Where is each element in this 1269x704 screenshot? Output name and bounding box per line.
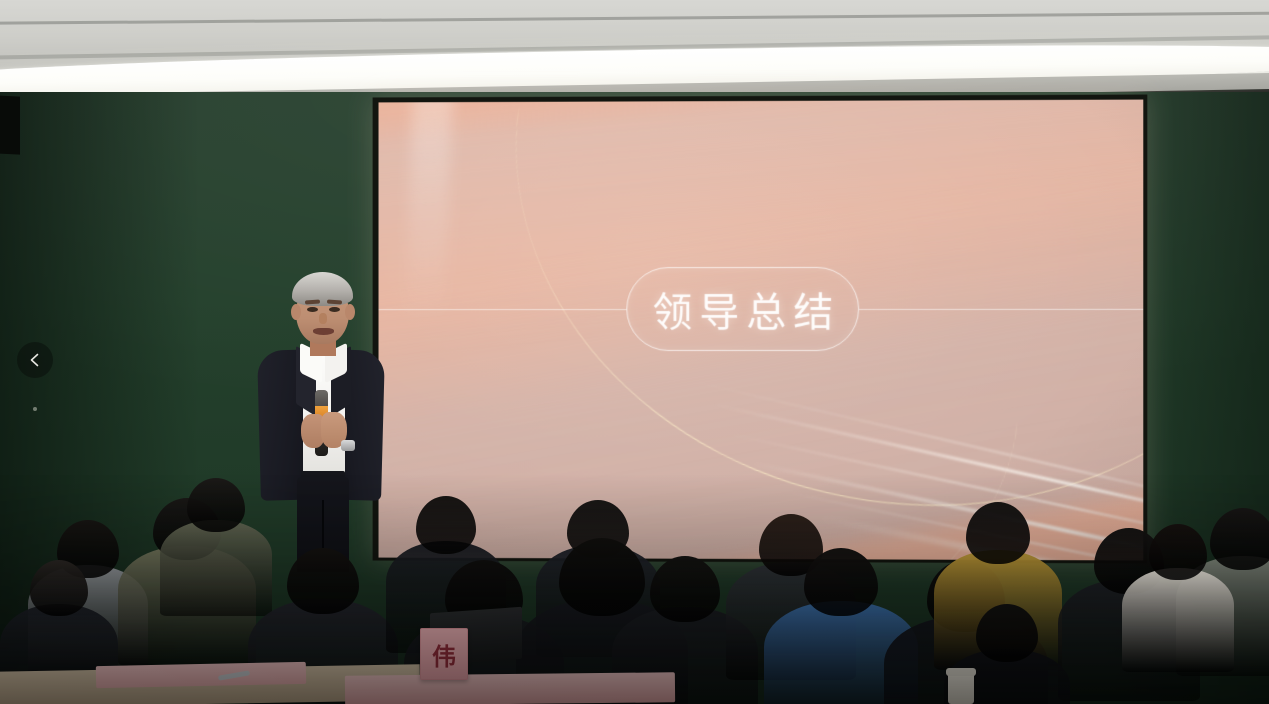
presenter-eye-right <box>329 307 340 312</box>
audience-member-head <box>416 496 476 554</box>
audience-member-head <box>187 478 245 532</box>
wall-speaker-panel <box>0 95 20 154</box>
audience-member-head <box>1149 524 1207 580</box>
photo-viewer: 领导总结 <box>0 0 1269 704</box>
audience-member-torso <box>1122 568 1234 672</box>
cup-lid <box>946 668 976 676</box>
presenter-eye-left <box>307 307 318 312</box>
screen-vignette <box>379 100 1144 561</box>
presenter-ear-right <box>345 304 355 320</box>
viewer-indicator-dot <box>33 407 37 411</box>
audience-member-head <box>650 556 720 622</box>
presenter <box>253 272 387 572</box>
name-placard: 伟 <box>420 628 468 680</box>
ceiling-seam <box>0 11 1269 25</box>
presenter-mouth <box>313 328 334 335</box>
projection-screen: 领导总结 <box>379 100 1144 561</box>
audience-member-head <box>804 548 878 616</box>
tablecloth-left <box>96 662 306 688</box>
name-placard-text: 伟 <box>432 637 456 672</box>
presenter-hair <box>292 272 353 306</box>
presenter-nose <box>319 313 327 324</box>
presenter-wristwatch <box>341 440 355 451</box>
prev-image-button[interactable] <box>17 342 53 378</box>
projection-screen-frame: 领导总结 <box>373 95 1148 564</box>
audience-member-head <box>30 560 88 616</box>
presenter-ear-left <box>291 304 301 320</box>
audience-member-head <box>976 604 1038 662</box>
chevron-left-icon <box>27 352 43 368</box>
audience-member-head <box>966 502 1030 564</box>
audience-member <box>1122 524 1234 684</box>
tablecloth-center <box>345 672 675 704</box>
audience-member-head <box>287 548 359 614</box>
